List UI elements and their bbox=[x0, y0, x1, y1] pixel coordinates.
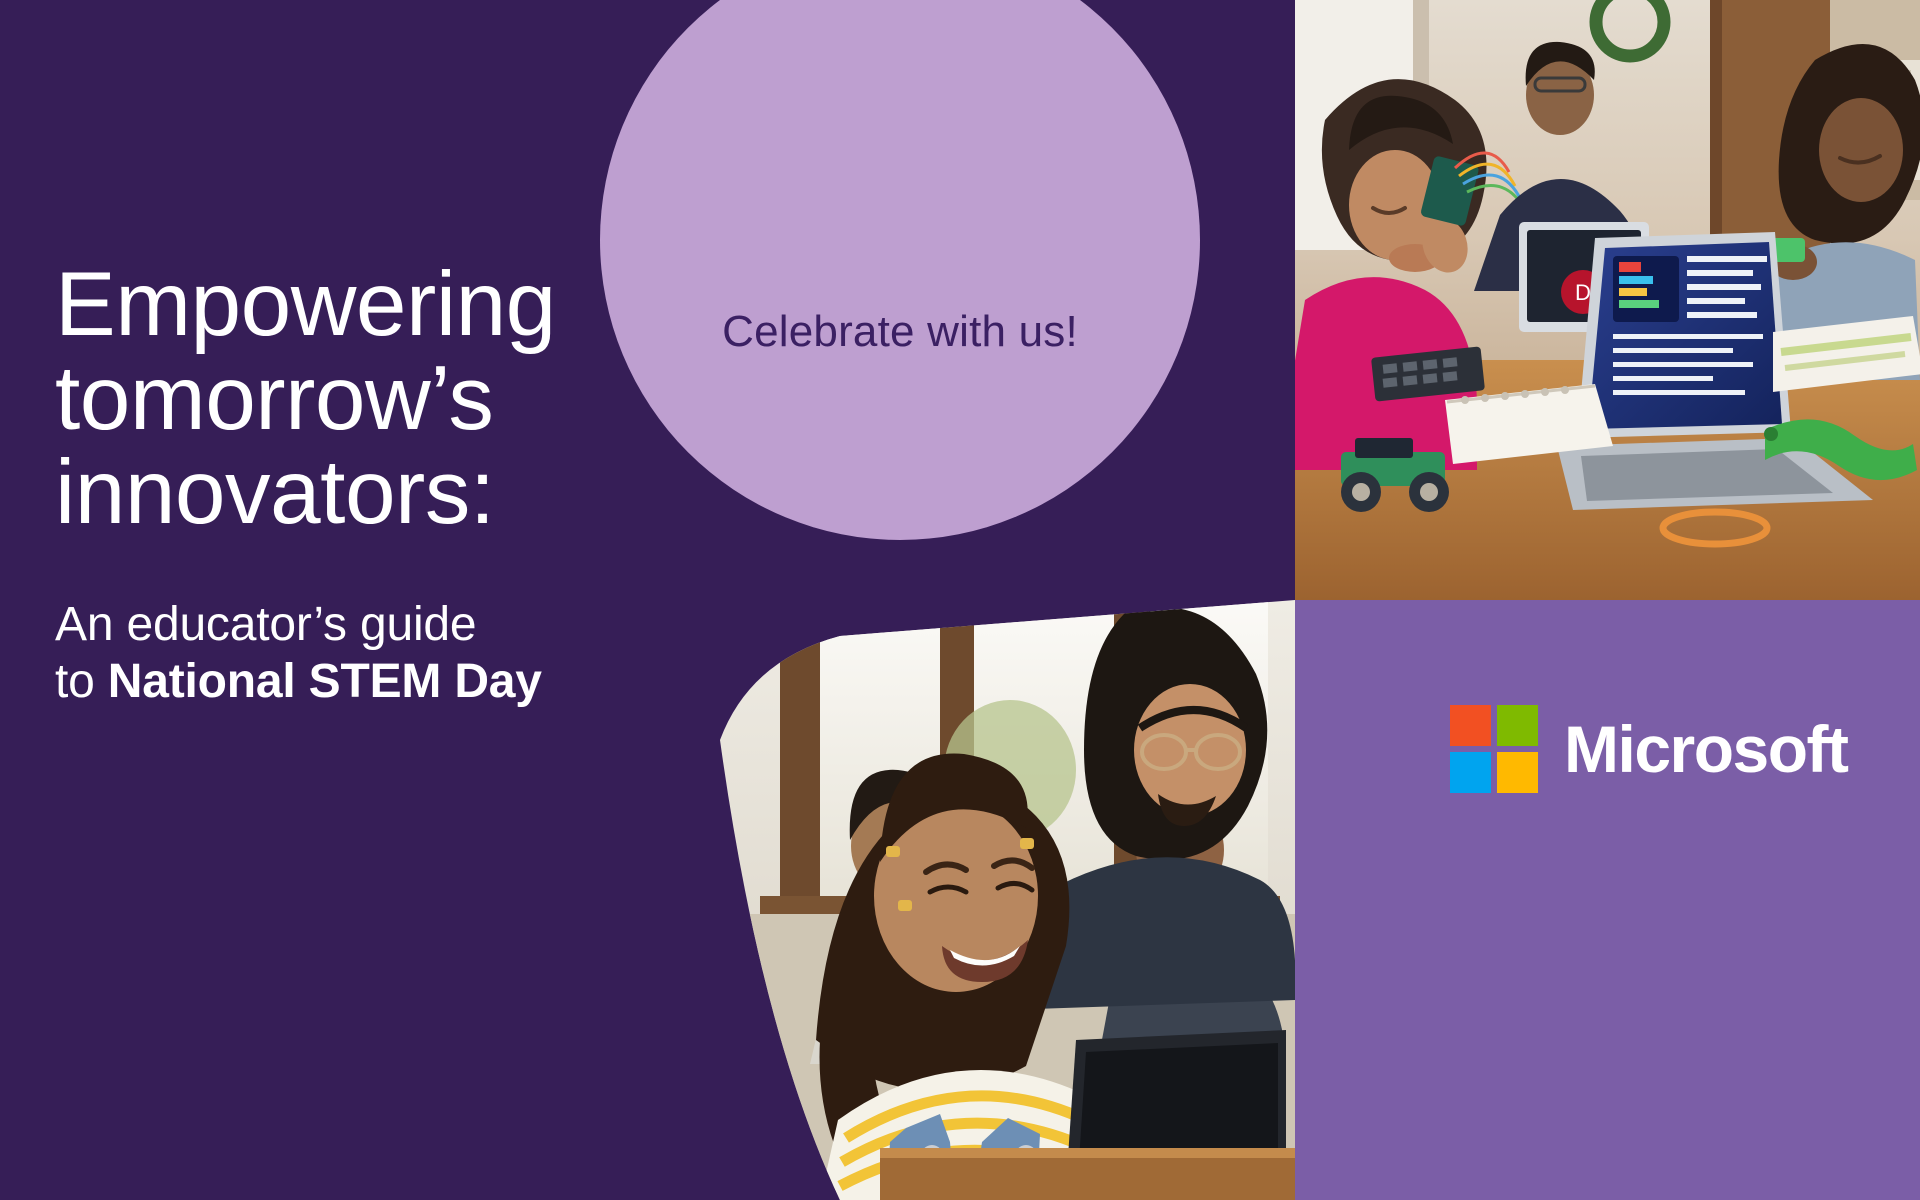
celebrate-badge: Celebrate with us! bbox=[600, 0, 1200, 540]
blue-tile bbox=[1450, 752, 1491, 793]
subtitle-emphasis: National STEM Day bbox=[108, 655, 542, 708]
subtitle-line-2: to National STEM Day bbox=[55, 653, 655, 710]
hero-subtitle: An educator’s guide to National STEM Day bbox=[55, 596, 655, 710]
green-tile bbox=[1497, 705, 1538, 746]
student-photo: acer bbox=[720, 600, 1295, 1200]
subtitle-prefix: to bbox=[55, 655, 108, 708]
page-title: Empowering tomorrow’s innovators: bbox=[55, 258, 655, 540]
microsoft-logo-icon bbox=[1450, 705, 1538, 793]
yellow-tile bbox=[1497, 752, 1538, 793]
microsoft-logo: Microsoft bbox=[1450, 705, 1848, 793]
celebrate-badge-label: Celebrate with us! bbox=[722, 307, 1078, 357]
poster-canvas: Empowering tomorrow’s innovators: An edu… bbox=[0, 0, 1920, 1200]
brand-panel: Microsoft bbox=[1295, 600, 1920, 1200]
classroom-photo-illustration: D bbox=[1295, 0, 1920, 600]
hero-text-block: Empowering tomorrow’s innovators: An edu… bbox=[55, 258, 655, 710]
student-photo-illustration: acer bbox=[720, 600, 1295, 1200]
subtitle-line-1: An educator’s guide bbox=[55, 596, 655, 653]
classroom-photo: D bbox=[1295, 0, 1920, 600]
microsoft-wordmark: Microsoft bbox=[1564, 711, 1848, 787]
red-tile bbox=[1450, 705, 1491, 746]
svg-text:D: D bbox=[1575, 280, 1591, 305]
